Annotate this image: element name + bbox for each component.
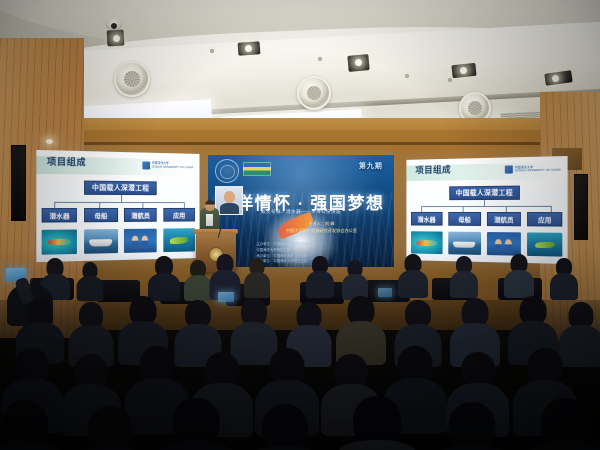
university-logo: 中国海洋大学 OCEAN UNIVERSITY OF CHINA bbox=[505, 165, 561, 174]
thumbnail-mothership bbox=[84, 229, 118, 254]
ceiling-sensor bbox=[448, 78, 452, 82]
audience-person bbox=[552, 258, 576, 300]
audience-person bbox=[0, 400, 60, 450]
projection-screen-left[interactable]: 项目组成 中国海洋大学 OCEAN UNIVERSITY OF CHINA 中国… bbox=[36, 150, 199, 262]
ceiling-sensor bbox=[210, 49, 214, 53]
host-line-2: 中国大洋矿产资源研究开发协会办公室 bbox=[260, 227, 383, 234]
host-line-1: 主讲人：刘 峰 bbox=[260, 220, 383, 227]
ceiling-sensor bbox=[405, 74, 409, 78]
audience-person bbox=[186, 260, 210, 300]
air-diffuser-icon bbox=[297, 76, 331, 110]
audience-person bbox=[344, 260, 366, 300]
wall-speaker-left bbox=[11, 145, 26, 221]
connector-drop bbox=[54, 202, 55, 209]
connector-drop bbox=[99, 202, 100, 209]
connector-bar bbox=[421, 206, 550, 207]
diagram-leaf-row: 潜水器 母船 潜航员 应用 bbox=[411, 212, 563, 226]
university-logo-text-en: OCEAN UNIVERSITY OF CHINA bbox=[515, 169, 561, 174]
diagram-leaf-pilots: 潜航员 bbox=[124, 208, 157, 222]
audience-person bbox=[506, 254, 532, 298]
wall-speaker-right bbox=[574, 174, 588, 240]
audience-person bbox=[308, 256, 332, 298]
thumbnail-submersible bbox=[411, 232, 443, 255]
laptop-screen bbox=[218, 292, 234, 302]
audience-person bbox=[160, 398, 232, 450]
wall-downlight-icon bbox=[46, 139, 53, 144]
audience-area bbox=[0, 252, 600, 450]
audience-person bbox=[400, 254, 426, 298]
diagram-leaf-application: 应用 bbox=[163, 208, 195, 222]
diagram-leaf-submersible: 潜水器 bbox=[42, 208, 78, 223]
audience-person bbox=[246, 258, 268, 298]
diagram-root-node: 中国载人深潜工程 bbox=[85, 181, 157, 196]
university-logo-mark bbox=[505, 166, 513, 174]
spotlight-icon bbox=[460, 67, 467, 74]
dome-camera-icon bbox=[106, 18, 122, 30]
audience-person bbox=[452, 256, 476, 298]
diagram-leaf-application: 应用 bbox=[527, 212, 562, 226]
air-diffuser-icon bbox=[114, 61, 150, 97]
audience-person bbox=[340, 296, 382, 362]
issue-number-label: 第九期 bbox=[359, 161, 383, 171]
university-logo-text-en: OCEAN UNIVERSITY OF CHINA bbox=[152, 165, 194, 169]
connector-bar bbox=[54, 202, 184, 203]
university-logo-mark bbox=[142, 161, 150, 169]
audience-person bbox=[78, 262, 102, 300]
thumbnail-application bbox=[163, 228, 195, 252]
slide-project-composition: 项目组成 中国海洋大学 OCEAN UNIVERSITY OF CHINA 中国… bbox=[36, 150, 199, 262]
event-flag-icon bbox=[243, 162, 271, 175]
diagram-leaf-row: 潜水器 母船 潜航员 应用 bbox=[42, 208, 195, 223]
slide-header-title: 项目组成 bbox=[415, 165, 451, 175]
audience-person bbox=[76, 406, 144, 450]
university-logo: 中国海洋大学 OCEAN UNIVERSITY OF CHINA bbox=[142, 161, 193, 170]
diagram-leaf-submersible: 潜水器 bbox=[411, 212, 443, 225]
diagram-leaf-pilots: 潜航员 bbox=[487, 212, 521, 226]
diagram-leaf-mothership: 母船 bbox=[84, 208, 118, 222]
presenter-head bbox=[205, 200, 215, 211]
audience-person bbox=[528, 398, 600, 450]
audience-person bbox=[436, 402, 508, 450]
auditorium-photo: 项目组成 中国海洋大学 OCEAN UNIVERSITY OF CHINA 中国… bbox=[0, 0, 600, 450]
university-emblem-icon bbox=[215, 159, 239, 183]
speaker-portrait bbox=[215, 186, 243, 215]
thumbnail-submersible bbox=[42, 230, 78, 255]
host-info: 主讲人：刘 峰 中国大洋矿产资源研究开发协会办公室 bbox=[260, 220, 383, 234]
diagram-root-node: 中国载人深潜工程 bbox=[449, 186, 520, 200]
spotlight-icon bbox=[245, 45, 252, 52]
audience-person bbox=[340, 396, 414, 450]
presenter-shirt bbox=[206, 214, 213, 226]
podium-top-surface bbox=[194, 229, 238, 234]
wall-trim bbox=[60, 142, 560, 145]
spotlight-icon bbox=[355, 59, 362, 66]
audience-person bbox=[150, 256, 178, 300]
slide-header-title: 项目组成 bbox=[47, 157, 86, 168]
spotlight-icon bbox=[552, 75, 559, 82]
audience-person bbox=[250, 404, 320, 450]
thumbnail-pilots bbox=[124, 229, 157, 253]
diagram-leaf-mothership: 母船 bbox=[448, 212, 481, 226]
ceiling-sensor bbox=[318, 57, 322, 61]
projection-screen-right[interactable]: 项目组成 中国海洋大学 OCEAN UNIVERSITY OF CHINA 中国… bbox=[406, 156, 567, 264]
slide-project-composition-mirror: 项目组成 中国海洋大学 OCEAN UNIVERSITY OF CHINA 中国… bbox=[406, 156, 567, 264]
spotlight-icon bbox=[113, 35, 120, 42]
